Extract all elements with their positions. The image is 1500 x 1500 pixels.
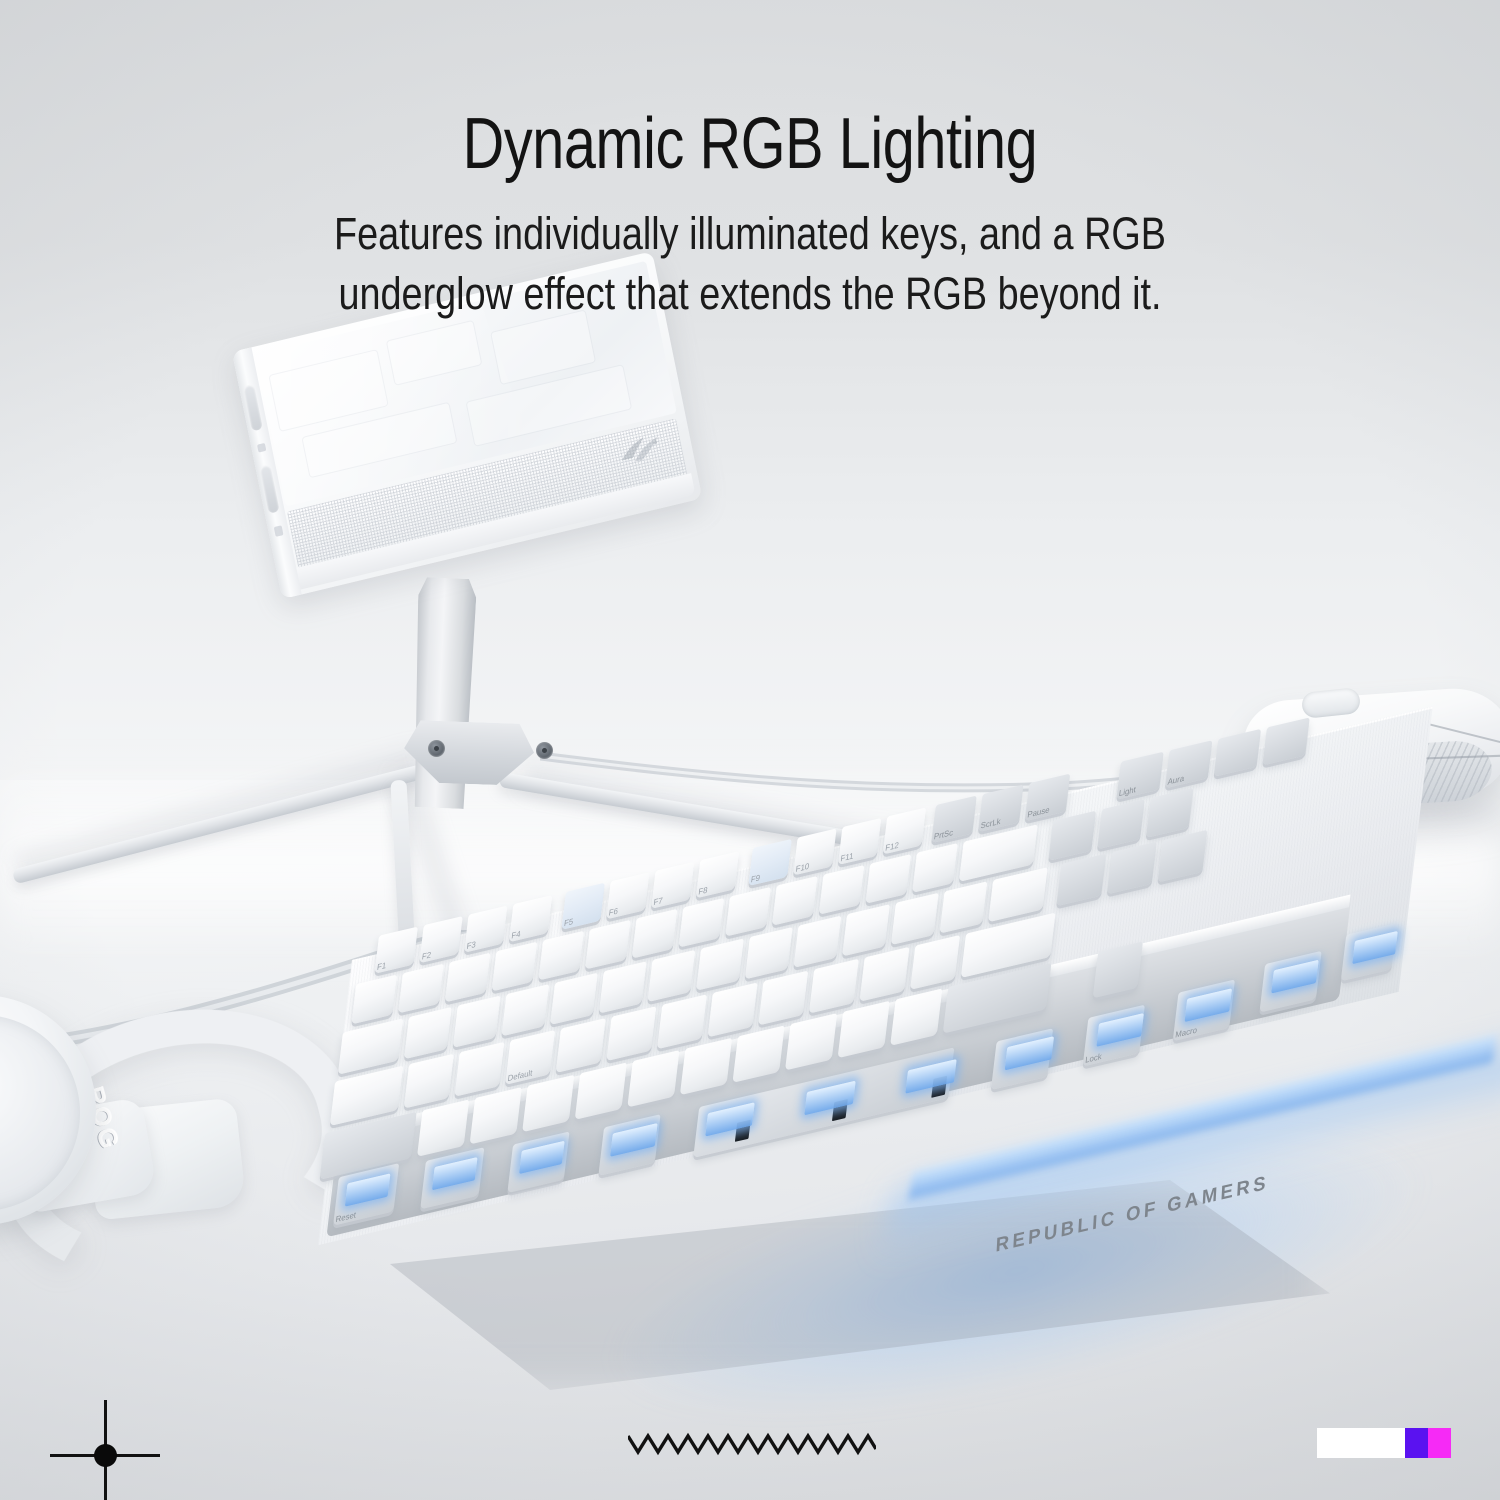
key-aura-plus[interactable] [1214, 729, 1261, 777]
key-f10[interactable]: F10 [793, 828, 836, 875]
headline-block: Dynamic RGB Lighting Features individual… [0, 0, 1500, 324]
key-u[interactable] [696, 938, 744, 990]
key-q[interactable] [404, 1007, 452, 1059]
key-9[interactable] [772, 876, 818, 926]
registration-crosshair-icon [50, 1400, 160, 1500]
key-tilde[interactable] [351, 975, 397, 1025]
monitor-label-icon [274, 525, 284, 537]
key-light[interactable]: Light [1116, 752, 1163, 800]
key-i[interactable] [745, 927, 793, 979]
key-home[interactable] [1097, 799, 1145, 849]
key-l[interactable] [809, 959, 859, 1014]
key-k[interactable] [758, 971, 808, 1026]
key-prtsc[interactable]: PrtSc [931, 796, 976, 844]
color-swatch-magenta [1428, 1428, 1451, 1458]
key-w[interactable] [453, 996, 501, 1048]
key-6[interactable] [632, 909, 678, 959]
key-v[interactable] [575, 1062, 627, 1119]
hinge-screw-right [536, 742, 553, 759]
key-y[interactable] [647, 950, 695, 1002]
key-3[interactable] [492, 942, 538, 992]
key-f12[interactable]: F12 [883, 807, 926, 854]
key-quote[interactable] [910, 935, 960, 990]
key-z[interactable] [417, 1099, 469, 1156]
key-rshift[interactable] [943, 963, 1052, 1034]
key-scrlk[interactable]: ScrLk [978, 785, 1023, 833]
key-t[interactable] [599, 961, 647, 1013]
key-r[interactable] [550, 973, 598, 1025]
key-e[interactable] [501, 984, 549, 1036]
key-h[interactable] [657, 994, 707, 1049]
key-equals[interactable] [912, 843, 958, 893]
mechanical-keyboard: F1 F2 F3 F4 F5 F6 F7 F8 F9 F10 F11 F12 P… [352, 840, 1500, 1370]
key-pgdn[interactable] [1158, 830, 1208, 883]
page-title: Dynamic RGB Lighting [150, 108, 1350, 180]
key-5[interactable] [585, 920, 631, 970]
key-f11[interactable]: F11 [838, 818, 881, 865]
key-7[interactable] [679, 898, 725, 948]
key-b[interactable] [627, 1050, 679, 1107]
key-slash[interactable] [890, 988, 942, 1045]
key-mode[interactable] [1262, 717, 1309, 765]
key-f1[interactable]: F1 [374, 927, 417, 974]
key-f9[interactable]: F9 [748, 839, 791, 886]
key-1[interactable] [398, 964, 444, 1014]
key-0[interactable] [819, 865, 865, 915]
subtitle-line-2: underglow effect that extends the RGB be… [120, 264, 1380, 324]
key-minus[interactable] [865, 854, 911, 904]
key-backslash[interactable] [988, 867, 1048, 922]
key-c[interactable] [522, 1075, 574, 1132]
key-end[interactable] [1107, 842, 1157, 895]
key-4[interactable] [538, 931, 584, 981]
subtitle-line-1: Features individually illuminated keys, … [120, 204, 1380, 264]
key-pgup[interactable] [1146, 788, 1194, 838]
key-f4[interactable]: F4 [509, 895, 552, 942]
key-f[interactable] [556, 1018, 606, 1073]
key-o[interactable] [793, 916, 841, 968]
key-d[interactable]: Default [505, 1030, 555, 1085]
key-lbracket[interactable] [891, 893, 939, 945]
color-swatch-white [1317, 1428, 1405, 1458]
key-p[interactable] [842, 904, 890, 956]
key-f8[interactable]: F8 [696, 851, 739, 898]
key-2[interactable] [445, 953, 491, 1003]
hinge-screw-left [428, 740, 445, 757]
zigzag-registration-icon [628, 1432, 876, 1458]
gaming-headset: ROG [0, 985, 286, 1305]
key-up-arrow[interactable] [1093, 941, 1143, 998]
key-insert[interactable] [1048, 811, 1096, 861]
color-calibration-bar [1317, 1428, 1451, 1458]
key-f2[interactable]: F2 [419, 916, 462, 963]
key-delete[interactable] [1056, 854, 1106, 907]
key-a[interactable] [404, 1054, 454, 1109]
key-aura[interactable]: Aura [1165, 740, 1212, 788]
key-semicolon[interactable] [859, 947, 909, 1002]
product-feature-image: Dynamic RGB Lighting Features individual… [0, 0, 1500, 1500]
key-tab[interactable] [338, 1018, 403, 1074]
page-subtitle: Features individually illuminated keys, … [120, 204, 1380, 324]
key-8[interactable] [725, 887, 771, 937]
key-g[interactable] [606, 1006, 656, 1061]
key-rbracket[interactable] [939, 881, 987, 933]
key-f3[interactable]: F3 [464, 906, 507, 953]
key-f6[interactable]: F6 [606, 872, 649, 919]
key-comma[interactable] [785, 1013, 837, 1070]
key-j[interactable] [708, 982, 758, 1037]
color-swatch-violet [1405, 1428, 1428, 1458]
key-period[interactable] [838, 1001, 890, 1058]
key-n[interactable] [680, 1038, 732, 1095]
key-pause[interactable]: Pause [1025, 774, 1070, 822]
key-f5[interactable]: F5 [561, 883, 604, 930]
key-f7[interactable]: F7 [651, 862, 694, 909]
key-x[interactable] [470, 1087, 522, 1144]
key-s[interactable] [454, 1042, 504, 1097]
key-m[interactable] [732, 1025, 784, 1082]
